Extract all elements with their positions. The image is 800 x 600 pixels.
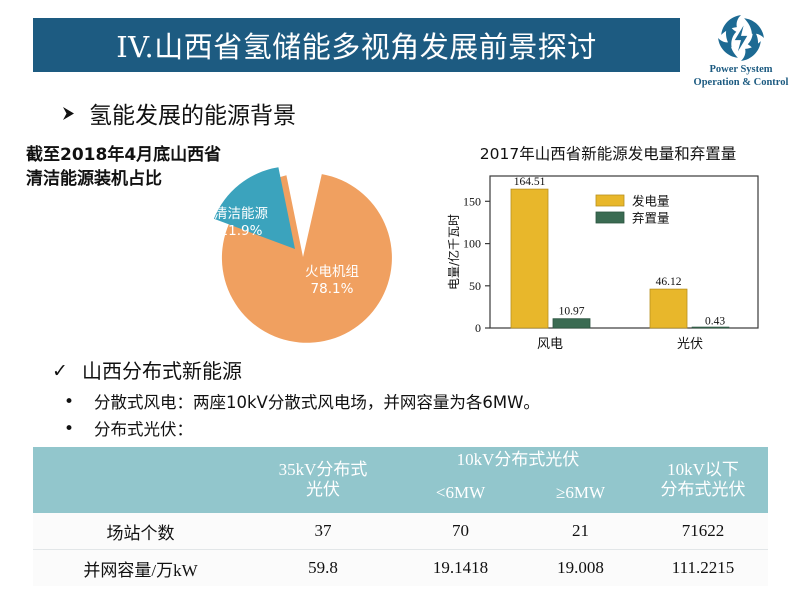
arrow-bullet-icon bbox=[60, 105, 77, 122]
slide-title-bar: IV.山西省氢储能多视角发展前景探讨 bbox=[33, 18, 680, 72]
y-axis-ticks bbox=[485, 201, 490, 328]
cell-grid-capacity-below-10kv: 111.2215 bbox=[638, 550, 768, 587]
new-energy-bar-chart: 2017年山西省新能源发电量和弃置量 0 50 100 150 电量/亿千瓦时 … bbox=[428, 142, 788, 357]
legend-label-curtailment: 弃置量 bbox=[632, 211, 670, 226]
table-header-35kv-line1: 35kV分布式 bbox=[248, 460, 398, 480]
bullet-item-main: ✓ 山西分布式新能源 bbox=[52, 358, 792, 384]
table-header-below-10kv-line1: 10kV以下 bbox=[638, 460, 768, 480]
table-header-10kv-group: 10kV分布式光伏 bbox=[398, 447, 638, 471]
clean-energy-pie-chart: 清洁能源 21.9% 火电机组 78.1% bbox=[175, 160, 425, 350]
table-header-below-10kv: 10kV以下 分布式光伏 bbox=[638, 447, 768, 513]
bar-chart-title: 2017年山西省新能源发电量和弃置量 bbox=[428, 142, 788, 164]
table-header-below-10kv-line2: 分布式光伏 bbox=[638, 480, 768, 500]
x-tick-wind: 风电 bbox=[537, 337, 563, 352]
bullet-item-wind: • 分散式风电：两座10kV分散式风电场，并网容量为各6MW。 bbox=[64, 390, 792, 415]
legend-swatch-generation bbox=[596, 195, 624, 206]
cell-station-count-35kv: 37 bbox=[248, 513, 398, 550]
dot-bullet-icon: • bbox=[64, 417, 94, 442]
logo-line-1: Power System bbox=[684, 64, 798, 77]
bar-chart-svg: 0 50 100 150 电量/亿千瓦时 164.51 10.97 46.12 … bbox=[428, 168, 788, 368]
cell-station-count-10kv-lt6mw: 70 bbox=[398, 513, 523, 550]
check-bullet-icon: ✓ bbox=[52, 358, 82, 384]
section-heading: 氢能发展的能源背景 bbox=[60, 96, 296, 130]
y-axis-tick-labels: 0 50 100 150 bbox=[463, 194, 481, 335]
y-tick-0: 0 bbox=[475, 321, 481, 335]
row-label-grid-capacity: 并网容量/万kW bbox=[33, 550, 248, 587]
y-axis-title: 电量/亿千瓦时 bbox=[446, 214, 461, 290]
cell-station-count-below-10kv: 71622 bbox=[638, 513, 768, 550]
row-label-station-count: 场站个数 bbox=[33, 513, 248, 550]
cell-grid-capacity-10kv-lt6mw: 19.1418 bbox=[398, 550, 523, 587]
bullet-wind-label: 分散式风电：两座10kV分散式风电场，并网容量为各6MW。 bbox=[94, 390, 540, 415]
bar-solar-generation bbox=[650, 289, 687, 328]
pie-chart-svg bbox=[175, 160, 425, 350]
table-row: 并网容量/万kW 59.8 19.1418 19.008 111.2215 bbox=[33, 550, 768, 587]
x-tick-solar: 光伏 bbox=[677, 337, 703, 352]
table-header-10kv-ge6mw: ≥6MW bbox=[523, 471, 638, 513]
y-tick-150: 150 bbox=[463, 194, 481, 208]
distributed-solar-table: 35kV分布式 光伏 10kV分布式光伏 10kV以下 分布式光伏 <6MW ≥… bbox=[33, 447, 768, 586]
y-tick-50: 50 bbox=[469, 279, 481, 293]
table-header: 35kV分布式 光伏 10kV分布式光伏 10kV以下 分布式光伏 <6MW ≥… bbox=[33, 447, 768, 513]
bullet-list: ✓ 山西分布式新能源 • 分散式风电：两座10kV分散式风电场，并网容量为各6M… bbox=[52, 358, 792, 444]
table-header-corner bbox=[33, 447, 248, 513]
section-heading-label: 氢能发展的能源背景 bbox=[89, 96, 296, 130]
logo-block: Power System Operation & Control bbox=[684, 12, 798, 89]
table-header-35kv: 35kV分布式 光伏 bbox=[248, 447, 398, 513]
bullet-solar-label: 分布式光伏： bbox=[94, 417, 193, 442]
bar-wind-curtailment bbox=[553, 319, 590, 328]
bar-label-solar-curtailment: 0.43 bbox=[705, 316, 725, 328]
bullet-item-solar: • 分布式光伏： bbox=[64, 417, 792, 442]
y-tick-100: 100 bbox=[463, 237, 481, 251]
table-header-10kv-lt6mw: <6MW bbox=[398, 471, 523, 513]
bar-label-wind-curtailment: 10.97 bbox=[559, 306, 585, 318]
bullet-main-label: 山西分布式新能源 bbox=[82, 358, 242, 384]
table-row: 场站个数 37 70 21 71622 bbox=[33, 513, 768, 550]
bar-label-solar-generation: 46.12 bbox=[656, 276, 682, 288]
table-body: 场站个数 37 70 21 71622 并网容量/万kW 59.8 19.141… bbox=[33, 513, 768, 586]
logo-line-2: Operation & Control bbox=[684, 77, 798, 90]
page-title: IV.山西省氢储能多视角发展前景探讨 bbox=[116, 24, 597, 66]
legend-label-generation: 发电量 bbox=[632, 194, 670, 209]
dot-bullet-icon: • bbox=[64, 390, 94, 415]
legend-swatch-curtailment bbox=[596, 212, 624, 223]
cell-grid-capacity-35kv: 59.8 bbox=[248, 550, 398, 587]
table-header-35kv-line2: 光伏 bbox=[248, 480, 398, 500]
power-swirl-logo-icon bbox=[715, 12, 767, 64]
table-header-row-top: 35kV分布式 光伏 10kV分布式光伏 10kV以下 分布式光伏 bbox=[33, 447, 768, 471]
cell-grid-capacity-10kv-ge6mw: 19.008 bbox=[523, 550, 638, 587]
bar-wind-generation bbox=[511, 189, 548, 328]
bar-label-wind-generation: 164.51 bbox=[514, 176, 546, 188]
cell-station-count-10kv-ge6mw: 21 bbox=[523, 513, 638, 550]
